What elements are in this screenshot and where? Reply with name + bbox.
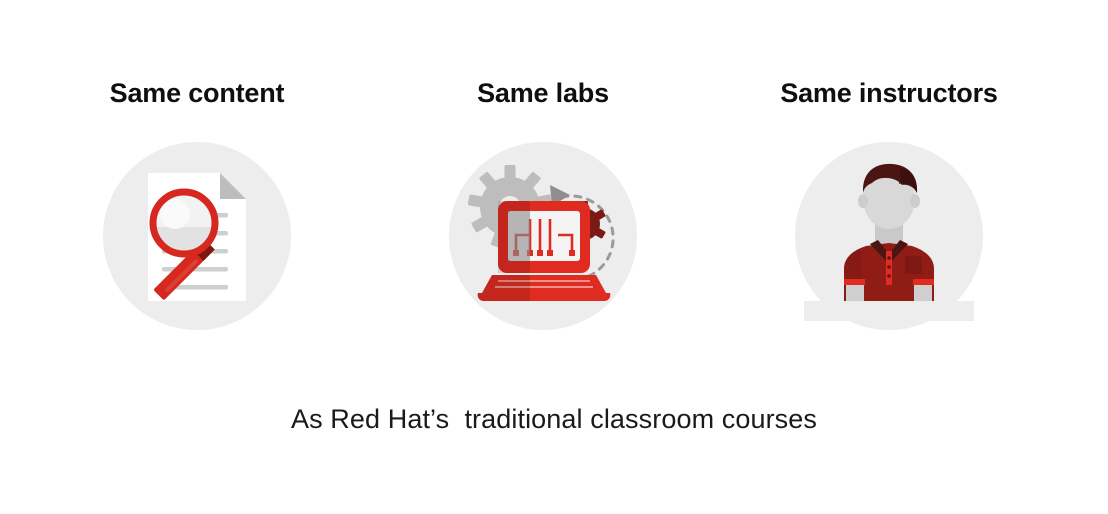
- feature-column-content: Same content: [24, 0, 370, 330]
- feature-column-labs: Same labs: [370, 0, 716, 330]
- heading-same-instructors: Same instructors: [780, 80, 997, 107]
- feature-columns: Same content: [0, 0, 1108, 330]
- icon-circle-content: [103, 142, 291, 330]
- icon-circle-instructors: [795, 142, 983, 330]
- icon-circle-labs: [449, 142, 637, 330]
- heading-same-content: Same content: [110, 80, 285, 107]
- caption-text: As Red Hat’s traditional classroom cours…: [0, 404, 1108, 435]
- heading-same-labs: Same labs: [477, 80, 609, 107]
- laptop-gears-icon: [458, 151, 628, 321]
- document-search-icon: [112, 151, 282, 321]
- feature-column-instructors: Same instructors: [716, 0, 1062, 330]
- instructor-person-icon: [804, 151, 974, 321]
- slide-root: Same content: [0, 0, 1108, 514]
